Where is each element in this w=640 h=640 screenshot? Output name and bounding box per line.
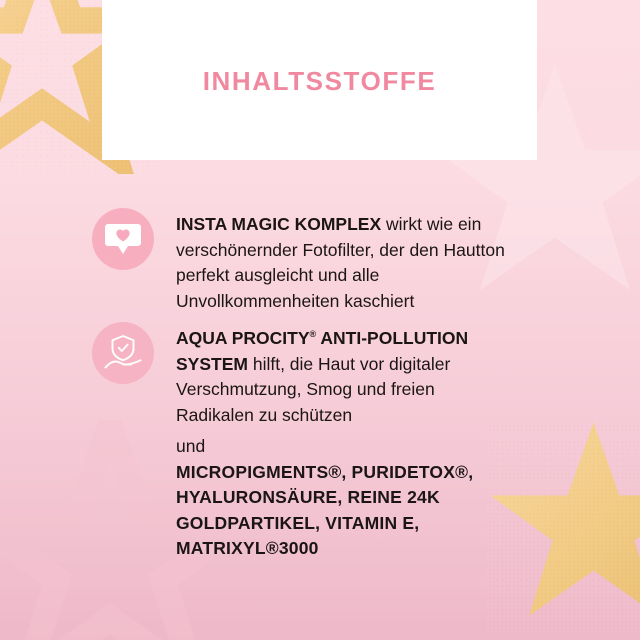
heart-speech-bubble-icon — [92, 208, 154, 270]
feature-text: AQUA PROCITY® ANTI-POLLUTION SYSTEM hilf… — [176, 322, 516, 428]
feature-row: AQUA PROCITY® ANTI-POLLUTION SYSTEM hilf… — [92, 322, 516, 428]
ingredients-block: und MICROPIGMENTS®, PURIDETOX®, HYALURON… — [176, 434, 536, 562]
ingredients-intro: und — [176, 434, 536, 460]
feature-bold-lead: INSTA MAGIC KOMPLEX — [176, 214, 381, 234]
feature-text: INSTA MAGIC KOMPLEX wirkt wie ein versch… — [176, 208, 516, 314]
shield-check-hand-icon — [92, 322, 154, 384]
ingredients-list: MICROPIGMENTS®, PURIDETOX®, HYALURONSÄUR… — [176, 460, 536, 562]
feature-bold-lead: AQUA PROCITY — [176, 328, 310, 348]
page-title: INHALTSSTOFFE — [203, 44, 437, 97]
feature-row: INSTA MAGIC KOMPLEX wirkt wie ein versch… — [92, 208, 516, 314]
title-card: INHALTSSTOFFE — [102, 0, 537, 160]
ingredients-panel: INHALTSSTOFFE INSTA MAGIC KOMPLEX wirkt … — [0, 0, 640, 640]
